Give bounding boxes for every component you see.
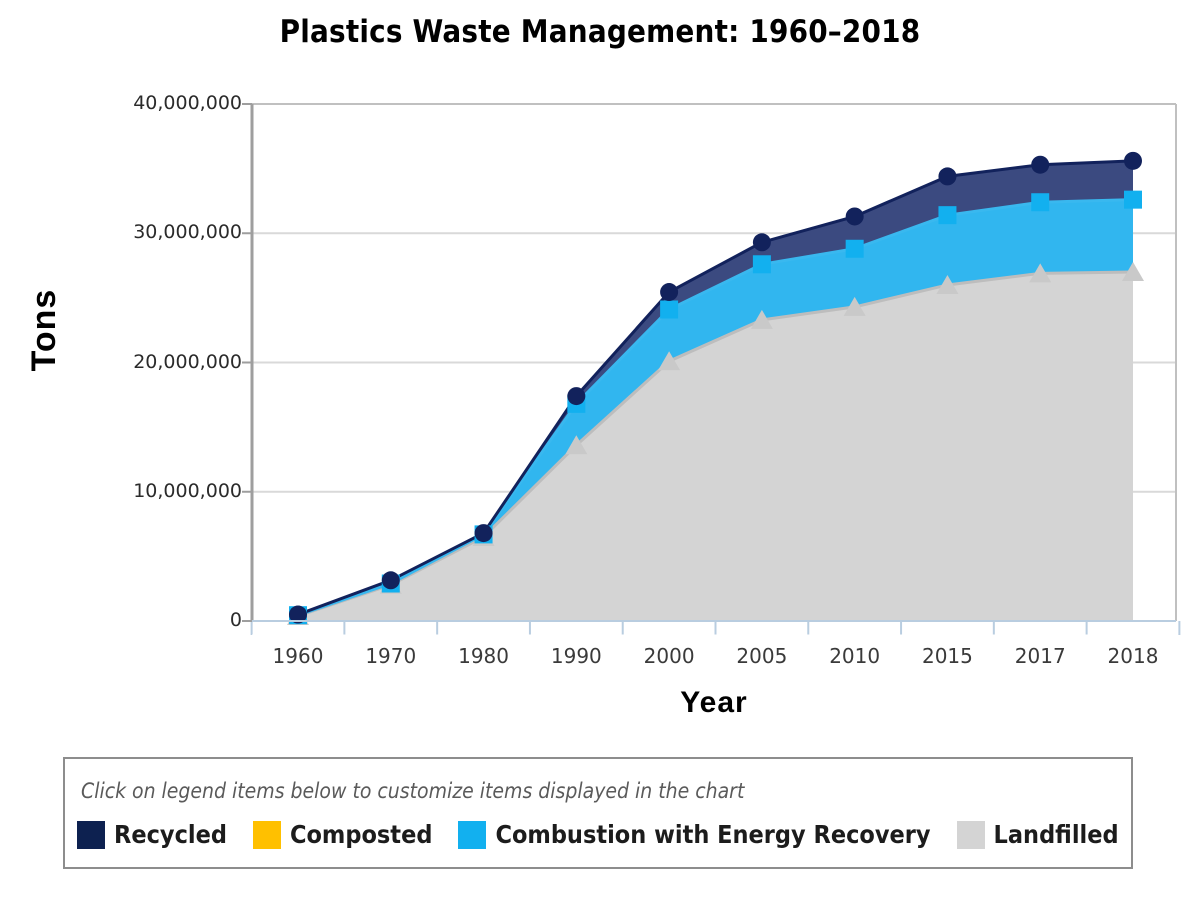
y-tick-label: 40,000,000 [82,92,242,114]
y-tick-label: 20,000,000 [82,351,242,373]
series-areas [298,161,1133,621]
legend-item-label: Combustion with Energy Recovery [495,821,930,849]
legend-items: RecycledCompostedCombustion with Energy … [77,821,1119,849]
x-tick-label: 2018 [1073,644,1193,668]
legend-item-label: Landfilled [994,821,1119,849]
legend-item-landfilled[interactable]: Landfilled [957,821,1119,849]
y-tick-label: 0 [82,609,242,631]
y-tick-label: 30,000,000 [82,221,242,243]
legend-panel: Click on legend items below to customize… [63,757,1133,869]
legend-item-composted[interactable]: Composted [253,821,432,849]
legend-item-label: Composted [290,821,432,849]
legend-item-recycled[interactable]: Recycled [77,821,227,849]
legend-item-combustion-with-energy-recovery[interactable]: Combustion with Energy Recovery [458,821,930,849]
chart-container: Plastics Waste Management: 1960–2018 Ton… [0,0,1200,900]
y-tick-label: 10,000,000 [82,480,242,502]
legend-swatch-icon [253,821,281,849]
legend-swatch-icon [957,821,985,849]
legend-hint-text: Click on legend items below to customize… [81,779,744,803]
x-axis-title: Year [252,686,1176,720]
legend-item-label: Recycled [114,821,227,849]
legend-swatch-icon [458,821,486,849]
legend-swatch-icon [77,821,105,849]
